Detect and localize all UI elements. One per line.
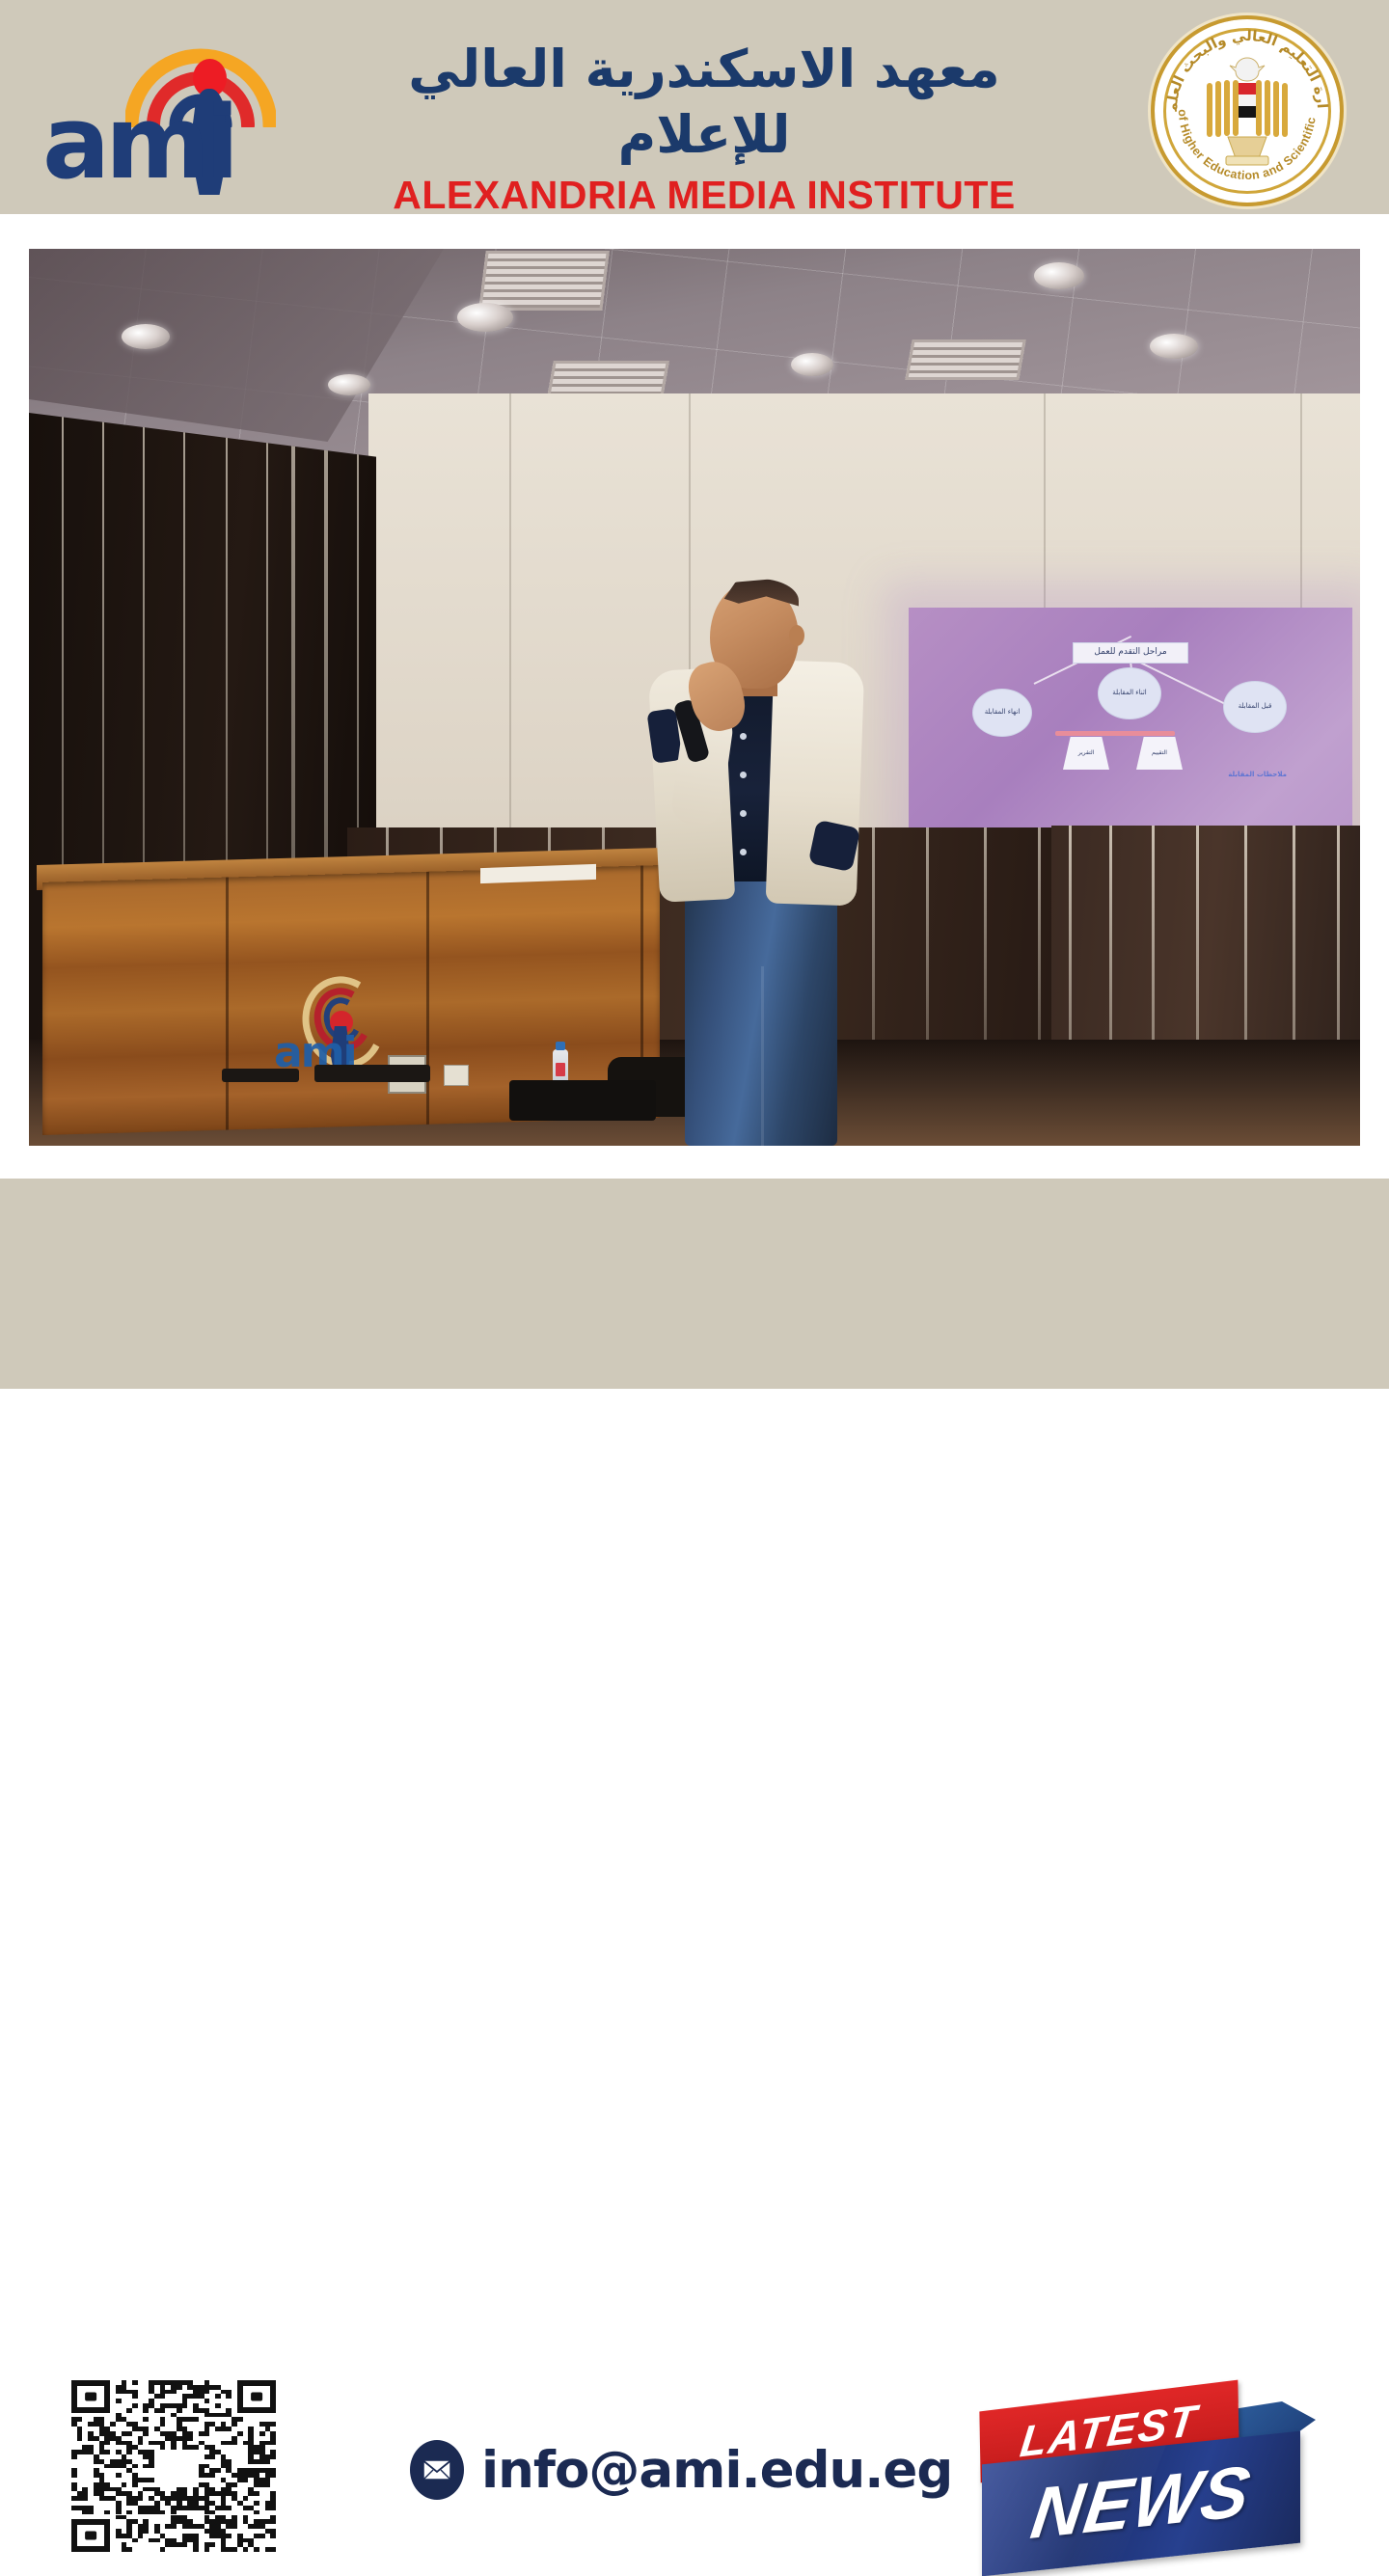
presenter-jacket-right <box>766 660 865 906</box>
slide-node: قبل المقابلة <box>1223 681 1287 733</box>
slide-subnode: التقرير <box>1063 737 1109 770</box>
slide-node: انهاء المقابلة <box>972 689 1032 737</box>
title-arabic: معهد الاسكندرية العالي للإعلام <box>318 37 1090 167</box>
latest-news-badge: LATEST NEWS <box>974 2392 1317 2565</box>
ami-logo: ami <box>33 14 276 203</box>
email-address: info@ami.edu.eg <box>481 2441 952 2500</box>
header-banner: ami معهد الاسكندرية العالي للإعلام ALEXA… <box>0 0 1389 214</box>
desk-equipment <box>222 1069 299 1082</box>
ami-wordmark: ami <box>42 93 234 193</box>
email-contact[interactable]: info@ami.edu.eg <box>410 2440 952 2500</box>
ceiling-vent <box>478 251 610 311</box>
envelope-icon <box>410 2440 464 2500</box>
slide-node: اثناء المقابلة <box>1098 667 1161 719</box>
presenter <box>627 556 868 1146</box>
title-english: ALEXANDRIA MEDIA INSTITUTE <box>318 173 1090 218</box>
desk-equipment <box>314 1065 430 1082</box>
presenter-jeans <box>685 874 837 1146</box>
egyptian-eagle-icon <box>1193 52 1301 170</box>
presenter-elbow-patch <box>808 820 861 873</box>
downlight-icon <box>1034 262 1084 289</box>
institute-title: معهد الاسكندرية العالي للإعلام ALEXANDRI… <box>318 37 1090 218</box>
qr-code[interactable] <box>62 2371 286 2562</box>
presenter-ear <box>789 625 804 646</box>
slide-bullet-list: ملاحظات المقابلة <box>1194 770 1287 779</box>
downlight-icon <box>328 374 370 395</box>
event-photo: مراحل التقدم للعمل انهاء المقابلة اثناء … <box>29 249 1360 1146</box>
footer-banner: info@ami.edu.eg LATEST NEWS <box>0 1179 1389 1389</box>
downlight-icon <box>791 353 833 376</box>
slide-title-box: مراحل التقدم للعمل <box>1073 642 1188 664</box>
ceiling-vent <box>905 339 1025 380</box>
wall-socket-icon <box>444 1065 469 1086</box>
ministry-seal: وزارة التعليم العالي والبحث العلمي Minis… <box>1151 15 1344 206</box>
downlight-icon <box>122 324 170 349</box>
downlight-icon <box>457 303 513 332</box>
bottle-cap <box>556 1042 565 1050</box>
slide-subnode: التقييم <box>1136 737 1183 770</box>
downlight-icon <box>1150 334 1198 359</box>
